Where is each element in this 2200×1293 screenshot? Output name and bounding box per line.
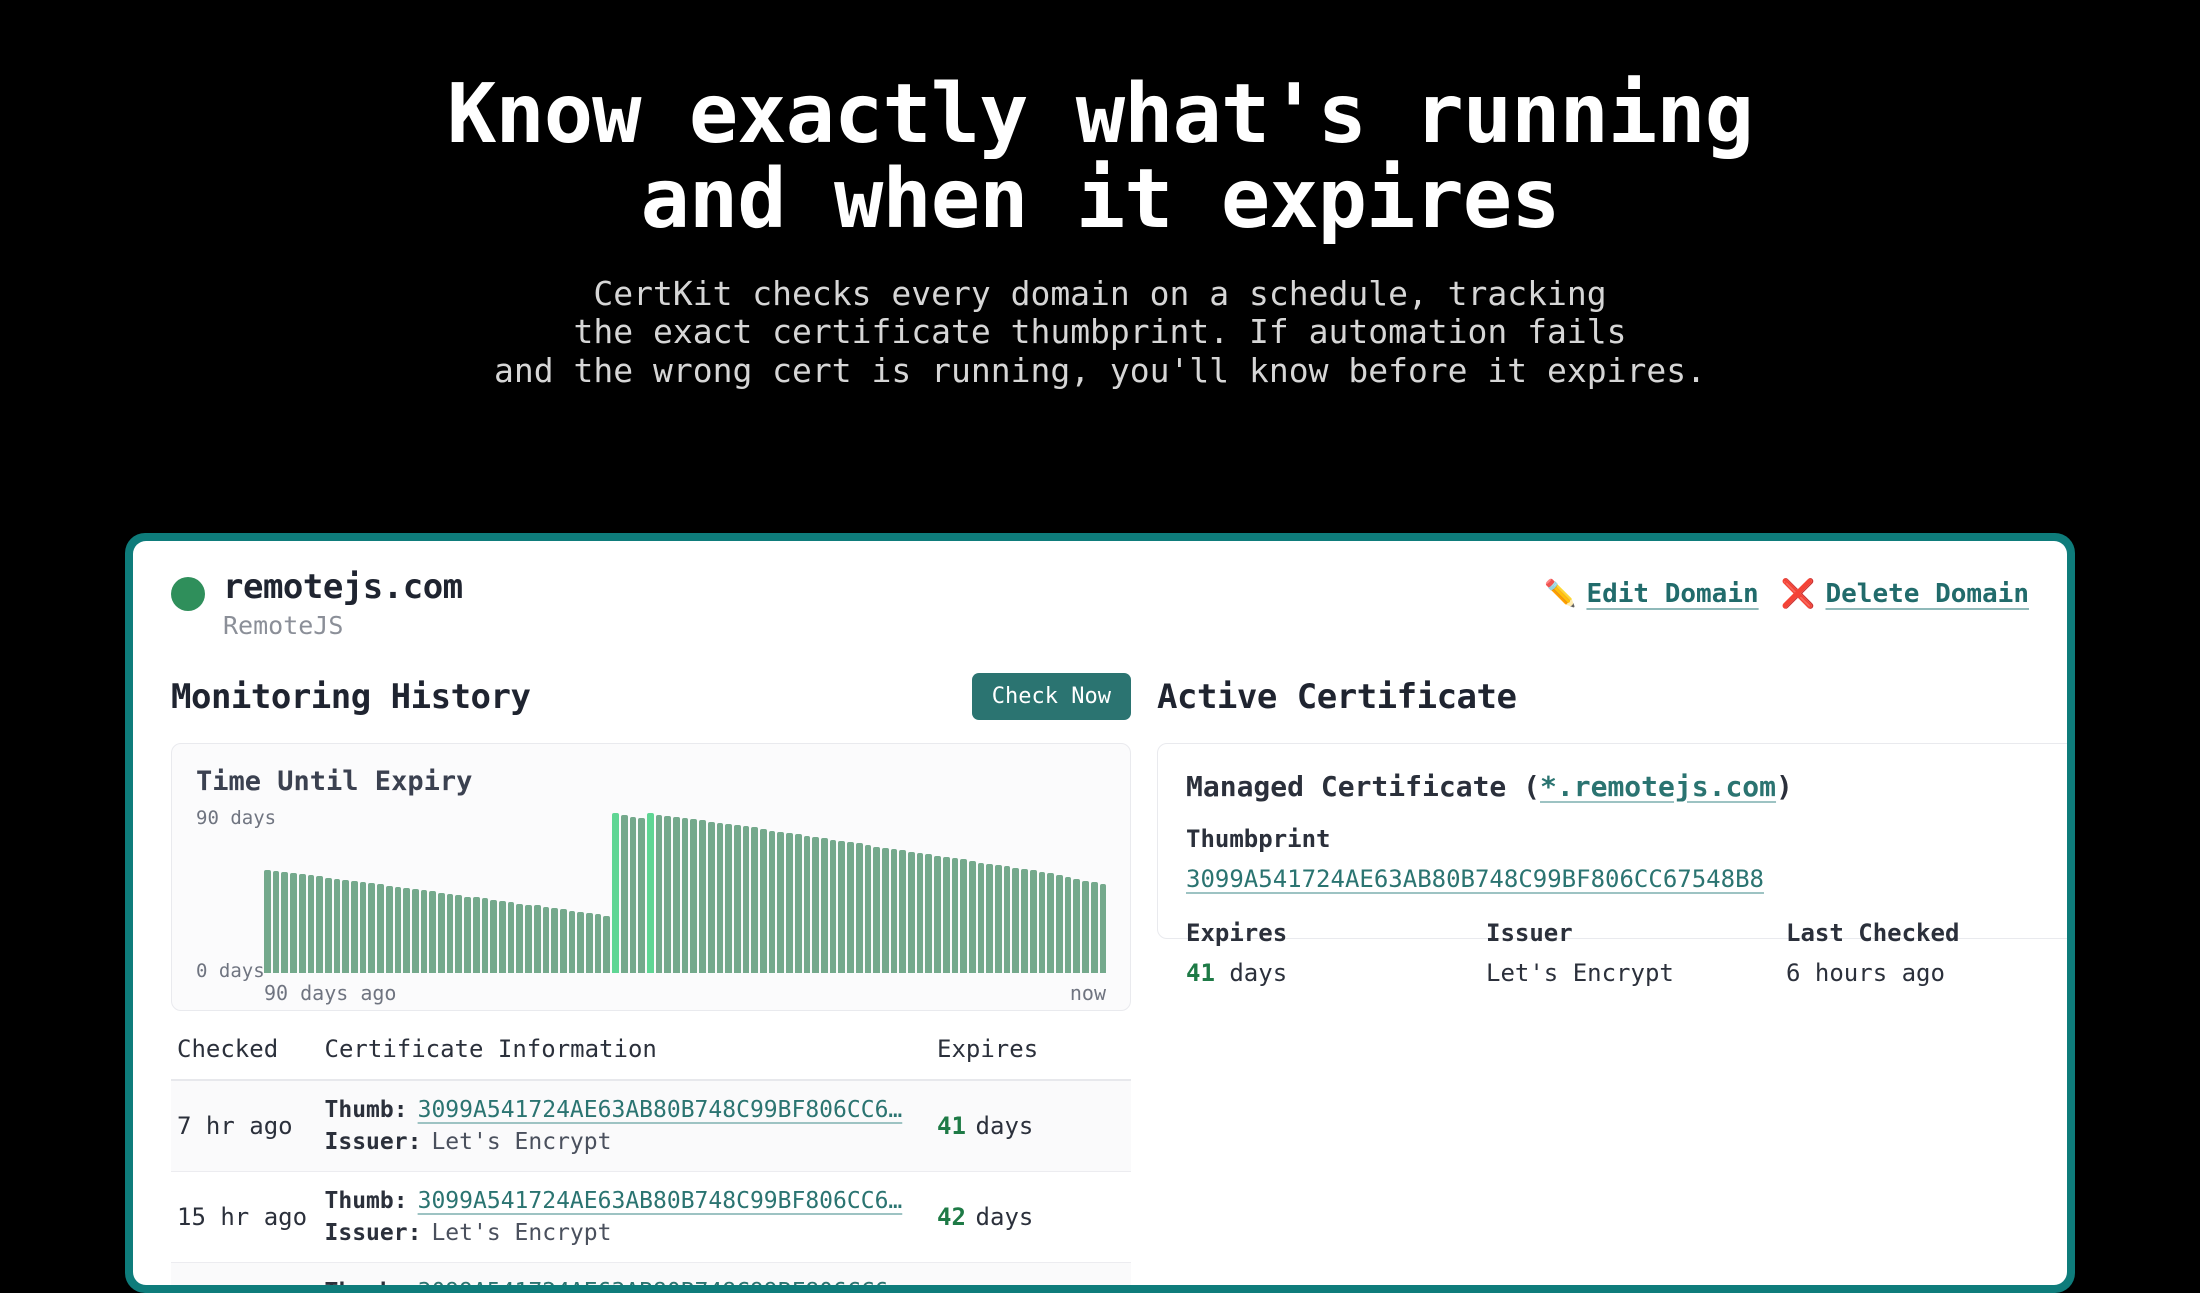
- cell-expires: 42 days: [931, 1262, 1131, 1285]
- chart-bar: [386, 886, 393, 973]
- thumb-value-link[interactable]: 3099A541724AE63AB80B748C99BF806CC6…: [418, 1097, 903, 1123]
- chart-bar: [960, 859, 967, 973]
- chart-bar: [838, 841, 845, 973]
- chart-bar: [647, 813, 654, 973]
- chart-bar: [534, 905, 541, 973]
- domain-identity: remotejs.com RemoteJS: [171, 567, 463, 643]
- issuer-label: Issuer:: [325, 1220, 422, 1246]
- x-axis-start-label: 90 days ago: [264, 981, 396, 1005]
- chart-bar: [429, 891, 436, 973]
- chart-bar: [351, 881, 358, 973]
- chart-bar: [978, 863, 985, 973]
- table-row[interactable]: 15 hr agoThumb:3099A541724AE63AB80B748C9…: [171, 1171, 1131, 1262]
- cell-certificate-information: Thumb:3099A541724AE63AB80B748C99BF806CC6…: [319, 1171, 931, 1262]
- page-title: Know exactly what's running and when it …: [0, 72, 2200, 243]
- wildcard-domain-link[interactable]: *.remotejs.com: [1540, 770, 1776, 803]
- thumb-value-link[interactable]: 3099A541724AE63AB80B748C99BF806CC6…: [418, 1188, 903, 1214]
- thumb-label: Thumb:: [325, 1279, 408, 1285]
- chart-bar: [804, 836, 811, 973]
- status-dot-icon: [171, 577, 205, 611]
- y-axis-min-label: 0 days: [196, 960, 265, 982]
- chart-bar: [673, 817, 680, 973]
- chart-plot-area: 90 days 0 days: [196, 813, 1106, 973]
- app-window: remotejs.com RemoteJS ✏️ Edit Domain ❌ D…: [133, 541, 2067, 1285]
- cell-checked: 7 hr ago: [171, 1080, 319, 1172]
- pencil-icon: ✏️: [1544, 581, 1576, 607]
- issuer-label: Issuer: [1486, 919, 1786, 947]
- content-columns: Monitoring History Check Now Time Until …: [163, 671, 2037, 1285]
- issuer-value: Let's Encrypt: [431, 1220, 611, 1246]
- monitoring-history-header: Monitoring History Check Now: [171, 671, 1131, 723]
- hero-title-line-2: and when it expires: [0, 157, 2200, 242]
- chart-bar: [899, 850, 906, 973]
- domain-org: RemoteJS: [223, 610, 463, 643]
- meta-last-checked: Last Checked 6 hours ago: [1786, 919, 2067, 987]
- chart-bar: [821, 838, 828, 973]
- chart-bar: [403, 888, 410, 973]
- edit-domain-button[interactable]: ✏️ Edit Domain: [1544, 579, 1759, 609]
- chart-bar: [1030, 870, 1037, 973]
- chart-bar: [891, 849, 898, 973]
- issuer-label: Issuer:: [325, 1129, 422, 1155]
- chart-bar: [952, 858, 959, 973]
- chart-bar: [499, 901, 506, 973]
- issuer-value: Let's Encrypt: [1486, 959, 1786, 987]
- active-certificate-title: Active Certificate: [1157, 677, 1516, 717]
- chart-bar: [377, 884, 384, 973]
- chart-bar: [638, 818, 645, 973]
- chart-bar: [595, 914, 602, 973]
- active-certificate-card: Managed Certificate (*.remotejs.com) Thu…: [1157, 743, 2067, 939]
- meta-expires: Expires 41 days: [1186, 919, 1486, 987]
- chart-bar: [856, 843, 863, 973]
- last-checked-value: 6 hours ago: [1786, 959, 2067, 987]
- chart-bar: [290, 873, 297, 973]
- chart-bar: [690, 819, 697, 973]
- chart-bar: [412, 889, 419, 973]
- chart-bar: [630, 817, 637, 973]
- chart-bar: [795, 834, 802, 973]
- chart-bar: [473, 897, 480, 973]
- app-screenshot-frame: remotejs.com RemoteJS ✏️ Edit Domain ❌ D…: [125, 533, 2075, 1293]
- chart-bar: [786, 833, 793, 973]
- cell-certificate-information: Thumb:3099A541724AE63AB80B748C99BF806CC6…: [319, 1080, 931, 1172]
- chart-bar: [612, 813, 619, 973]
- chart-bar: [308, 875, 315, 973]
- cell-expires: 42 days: [931, 1171, 1131, 1262]
- expires-value: 41 days: [1186, 959, 1486, 987]
- chart-bar: [760, 829, 767, 973]
- cell-expires: 41 days: [931, 1080, 1131, 1172]
- delete-domain-label[interactable]: Delete Domain: [1826, 579, 2030, 609]
- x-icon: ❌: [1781, 580, 1816, 608]
- hero-subtitle-line-1: CertKit checks every domain on a schedul…: [0, 275, 2200, 314]
- chart-bar: [508, 902, 515, 973]
- chart-bar: [847, 842, 854, 973]
- chart-bar: [281, 872, 288, 973]
- chart-bar: [577, 912, 584, 973]
- chart-bar: [360, 882, 367, 973]
- edit-domain-label[interactable]: Edit Domain: [1586, 579, 1758, 609]
- chart-bar: [734, 825, 741, 973]
- active-certificate-header: Active Certificate: [1157, 671, 2067, 723]
- chart-bar: [560, 909, 567, 973]
- chart-bar: [273, 871, 280, 973]
- table-header-row: Checked Certificate Information Expires: [171, 1025, 1131, 1080]
- check-now-button[interactable]: Check Now: [972, 673, 1131, 720]
- chart-bar: [1021, 869, 1028, 973]
- chart-bar: [325, 878, 332, 973]
- chart-bar: [447, 894, 454, 973]
- chart-bar: [299, 874, 306, 973]
- chart-bar: [664, 816, 671, 973]
- chart-bar: [1056, 875, 1063, 973]
- chart-bar: [1082, 881, 1089, 973]
- column-header-checked: Checked: [171, 1025, 319, 1080]
- expires-label: Expires: [1186, 919, 1486, 947]
- managed-certificate-prefix: Managed Certificate (: [1186, 770, 1540, 803]
- issuer-value: Let's Encrypt: [431, 1129, 611, 1155]
- chart-bars: [264, 813, 1106, 973]
- chart-bar: [316, 876, 323, 973]
- app-header: remotejs.com RemoteJS ✏️ Edit Domain ❌ D…: [163, 563, 2037, 643]
- chart-bar: [943, 857, 950, 973]
- chart-bar: [395, 887, 402, 973]
- expiry-chart-card: Time Until Expiry 90 days 0 days 90 days…: [171, 743, 1131, 1011]
- column-header-expires: Expires: [931, 1025, 1131, 1080]
- chart-bar: [421, 890, 428, 973]
- chart-bar: [455, 895, 462, 973]
- thumbprint-label: Thumbprint: [1186, 825, 2067, 853]
- cell-certificate-information: Thumb:3099A541724AE63AB80B748C99BF806CC6…: [319, 1262, 931, 1285]
- monitoring-history-table: Checked Certificate Information Expires …: [171, 1025, 1131, 1285]
- chart-bar: [917, 853, 924, 973]
- chart-bar: [1065, 877, 1072, 973]
- chart-bar: [812, 837, 819, 973]
- chart-bar: [682, 818, 689, 973]
- chart-bar: [908, 852, 915, 973]
- column-header-certificate-information: Certificate Information: [319, 1025, 931, 1080]
- table-body: 7 hr agoThumb:3099A541724AE63AB80B748C99…: [171, 1080, 1131, 1285]
- chart-bar: [934, 856, 941, 973]
- hero-subtitle-line-2: the exact certificate thumbprint. If aut…: [0, 313, 2200, 352]
- hero-section: Know exactly what's running and when it …: [0, 0, 2200, 391]
- expires-days: 41: [1186, 959, 1215, 987]
- chart-bar: [464, 897, 471, 973]
- chart-bar: [482, 898, 489, 973]
- header-actions: ✏️ Edit Domain ❌ Delete Domain: [1544, 567, 2029, 609]
- thumbprint-value-link[interactable]: 3099A541724AE63AB80B748C99BF806CC67548B8: [1186, 865, 1764, 893]
- chart-bar: [986, 864, 993, 973]
- thumb-value-link[interactable]: 3099A541724AE63AB80B748C99BF806CC6…: [418, 1279, 903, 1285]
- last-checked-label: Last Checked: [1786, 919, 2067, 947]
- thumb-label: Thumb:: [325, 1188, 408, 1214]
- chart-title: Time Until Expiry: [196, 766, 1106, 797]
- managed-certificate-heading: Managed Certificate (*.remotejs.com): [1186, 770, 2067, 803]
- hero-subtitle: CertKit checks every domain on a schedul…: [0, 275, 2200, 392]
- chart-bar: [438, 893, 445, 973]
- cell-checked: 15 hr ago: [171, 1171, 319, 1262]
- chart-bar: [708, 822, 715, 973]
- chart-bar: [769, 831, 776, 973]
- hero-title-line-1: Know exactly what's running: [0, 72, 2200, 157]
- certificate-meta-row: Expires 41 days Issuer Let's Encrypt Las…: [1186, 919, 2067, 987]
- chart-bar: [1091, 882, 1098, 973]
- chart-bar: [621, 815, 628, 973]
- chart-bar: [264, 870, 271, 973]
- chart-bar: [368, 883, 375, 973]
- chart-bar: [1004, 866, 1011, 973]
- chart-bar: [969, 861, 976, 973]
- chart-bar: [777, 832, 784, 973]
- chart-bar: [725, 824, 732, 973]
- table-row[interactable]: 7 hr agoThumb:3099A541724AE63AB80B748C99…: [171, 1080, 1131, 1172]
- chart-bar: [751, 827, 758, 973]
- chart-bar: [586, 913, 593, 973]
- chart-bar: [882, 848, 889, 973]
- chart-bar: [342, 880, 349, 973]
- chart-bar: [1073, 879, 1080, 973]
- chart-bar: [699, 820, 706, 973]
- thumb-label: Thumb:: [325, 1097, 408, 1123]
- x-axis-end-label: now: [1070, 981, 1106, 1005]
- chart-bar: [1100, 884, 1107, 973]
- chart-bar: [551, 908, 558, 973]
- chart-x-axis: 90 days ago now: [264, 981, 1106, 1005]
- chart-bar: [743, 826, 750, 973]
- managed-certificate-suffix: ): [1776, 770, 1793, 803]
- chart-bar: [543, 907, 550, 973]
- chart-bar: [525, 905, 532, 973]
- chart-bar: [334, 879, 341, 973]
- chart-bar: [569, 911, 576, 973]
- chart-bar: [1039, 872, 1046, 973]
- chart-bar: [1012, 868, 1019, 973]
- monitoring-history-column: Monitoring History Check Now Time Until …: [171, 671, 1131, 1285]
- chart-bar: [865, 845, 872, 973]
- chart-bar: [603, 916, 610, 973]
- chart-bar: [873, 847, 880, 973]
- chart-bar: [717, 823, 724, 973]
- table-row[interactable]: 23 hr agoThumb:3099A541724AE63AB80B748C9…: [171, 1262, 1131, 1285]
- delete-domain-button[interactable]: ❌ Delete Domain: [1781, 579, 2029, 609]
- monitoring-history-title: Monitoring History: [171, 677, 530, 717]
- chart-bar: [490, 900, 497, 973]
- chart-bar: [830, 840, 837, 973]
- chart-bar: [995, 865, 1002, 973]
- chart-bar: [656, 815, 663, 973]
- cell-checked: 23 hr ago: [171, 1262, 319, 1285]
- hero-subtitle-line-3: and the wrong cert is running, you'll kn…: [0, 352, 2200, 391]
- active-certificate-column: Active Certificate Managed Certificate (…: [1157, 671, 2067, 1285]
- chart-bar: [516, 904, 523, 973]
- chart-bar: [1047, 873, 1054, 973]
- chart-bar: [925, 854, 932, 973]
- domain-name: remotejs.com: [223, 567, 463, 608]
- meta-issuer: Issuer Let's Encrypt: [1486, 919, 1786, 987]
- expires-unit: days: [1229, 959, 1287, 987]
